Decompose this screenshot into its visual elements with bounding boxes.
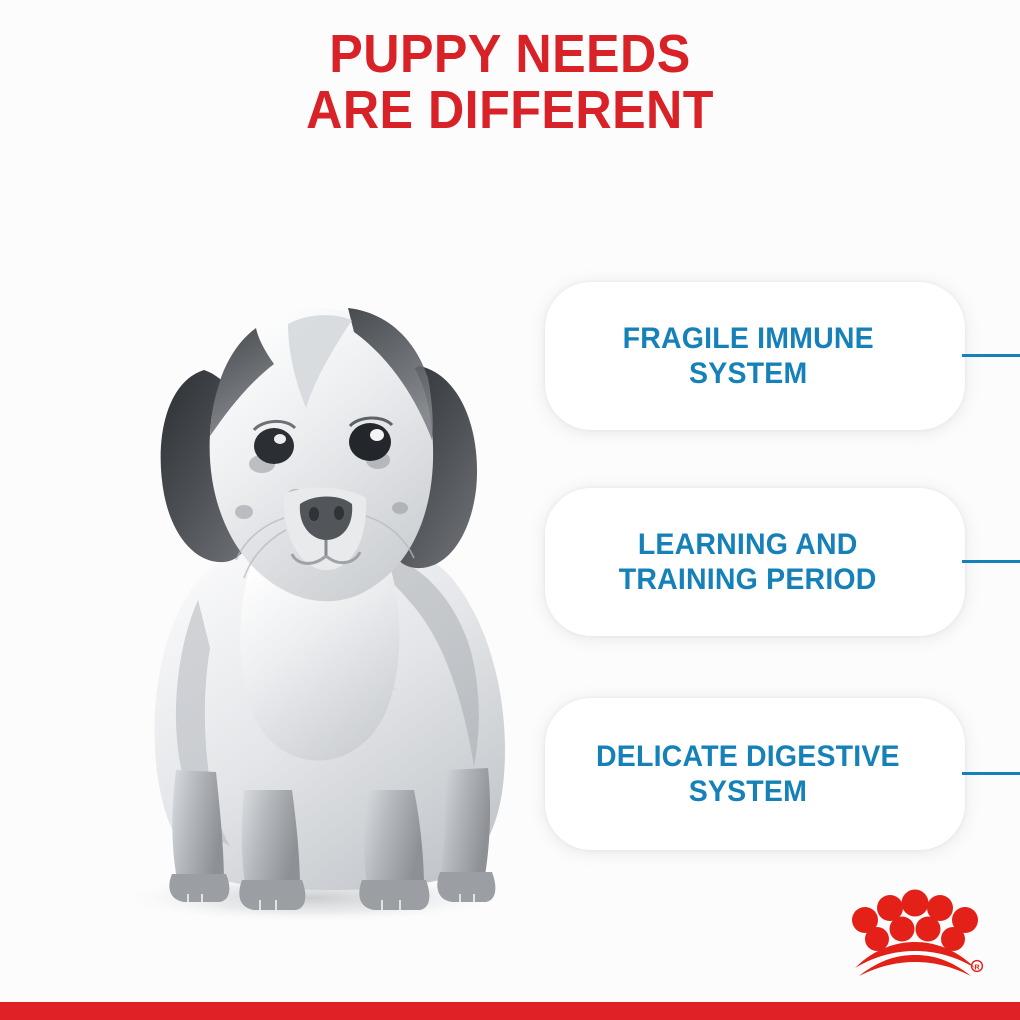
callout-text: DELICATE DIGESTIVE SYSTEM <box>596 739 900 809</box>
callout-card-fragile-immune-system[interactable]: FRAGILE IMMUNE SYSTEM <box>545 282 965 430</box>
callout-card-learning-and-training-period[interactable]: LEARNING AND TRAINING PERIOD <box>545 488 965 636</box>
page-title: PUPPY NEEDS ARE DIFFERENT <box>0 26 1020 138</box>
puppy-illustration <box>48 250 568 930</box>
callout-text: LEARNING AND TRAINING PERIOD <box>619 527 877 597</box>
callout-card-delicate-digestive-system[interactable]: DELICATE DIGESTIVE SYSTEM <box>545 698 965 850</box>
connector-line-3 <box>962 772 1020 775</box>
connector-line-2 <box>962 560 1020 563</box>
title-line-2: ARE DIFFERENT <box>36 82 985 138</box>
royal-canin-crown-logo: R <box>845 886 985 978</box>
registered-mark-icon: R <box>972 961 983 972</box>
svg-text:R: R <box>974 964 979 971</box>
poster-canvas: PUPPY NEEDS ARE DIFFERENT <box>0 0 1020 1020</box>
puppy-photo <box>48 250 568 930</box>
connector-line-1 <box>962 354 1020 357</box>
title-line-1: PUPPY NEEDS <box>36 26 985 82</box>
crown-icon: R <box>845 886 985 978</box>
footer-red-bar <box>0 1002 1020 1020</box>
callout-text: FRAGILE IMMUNE SYSTEM <box>622 321 873 391</box>
